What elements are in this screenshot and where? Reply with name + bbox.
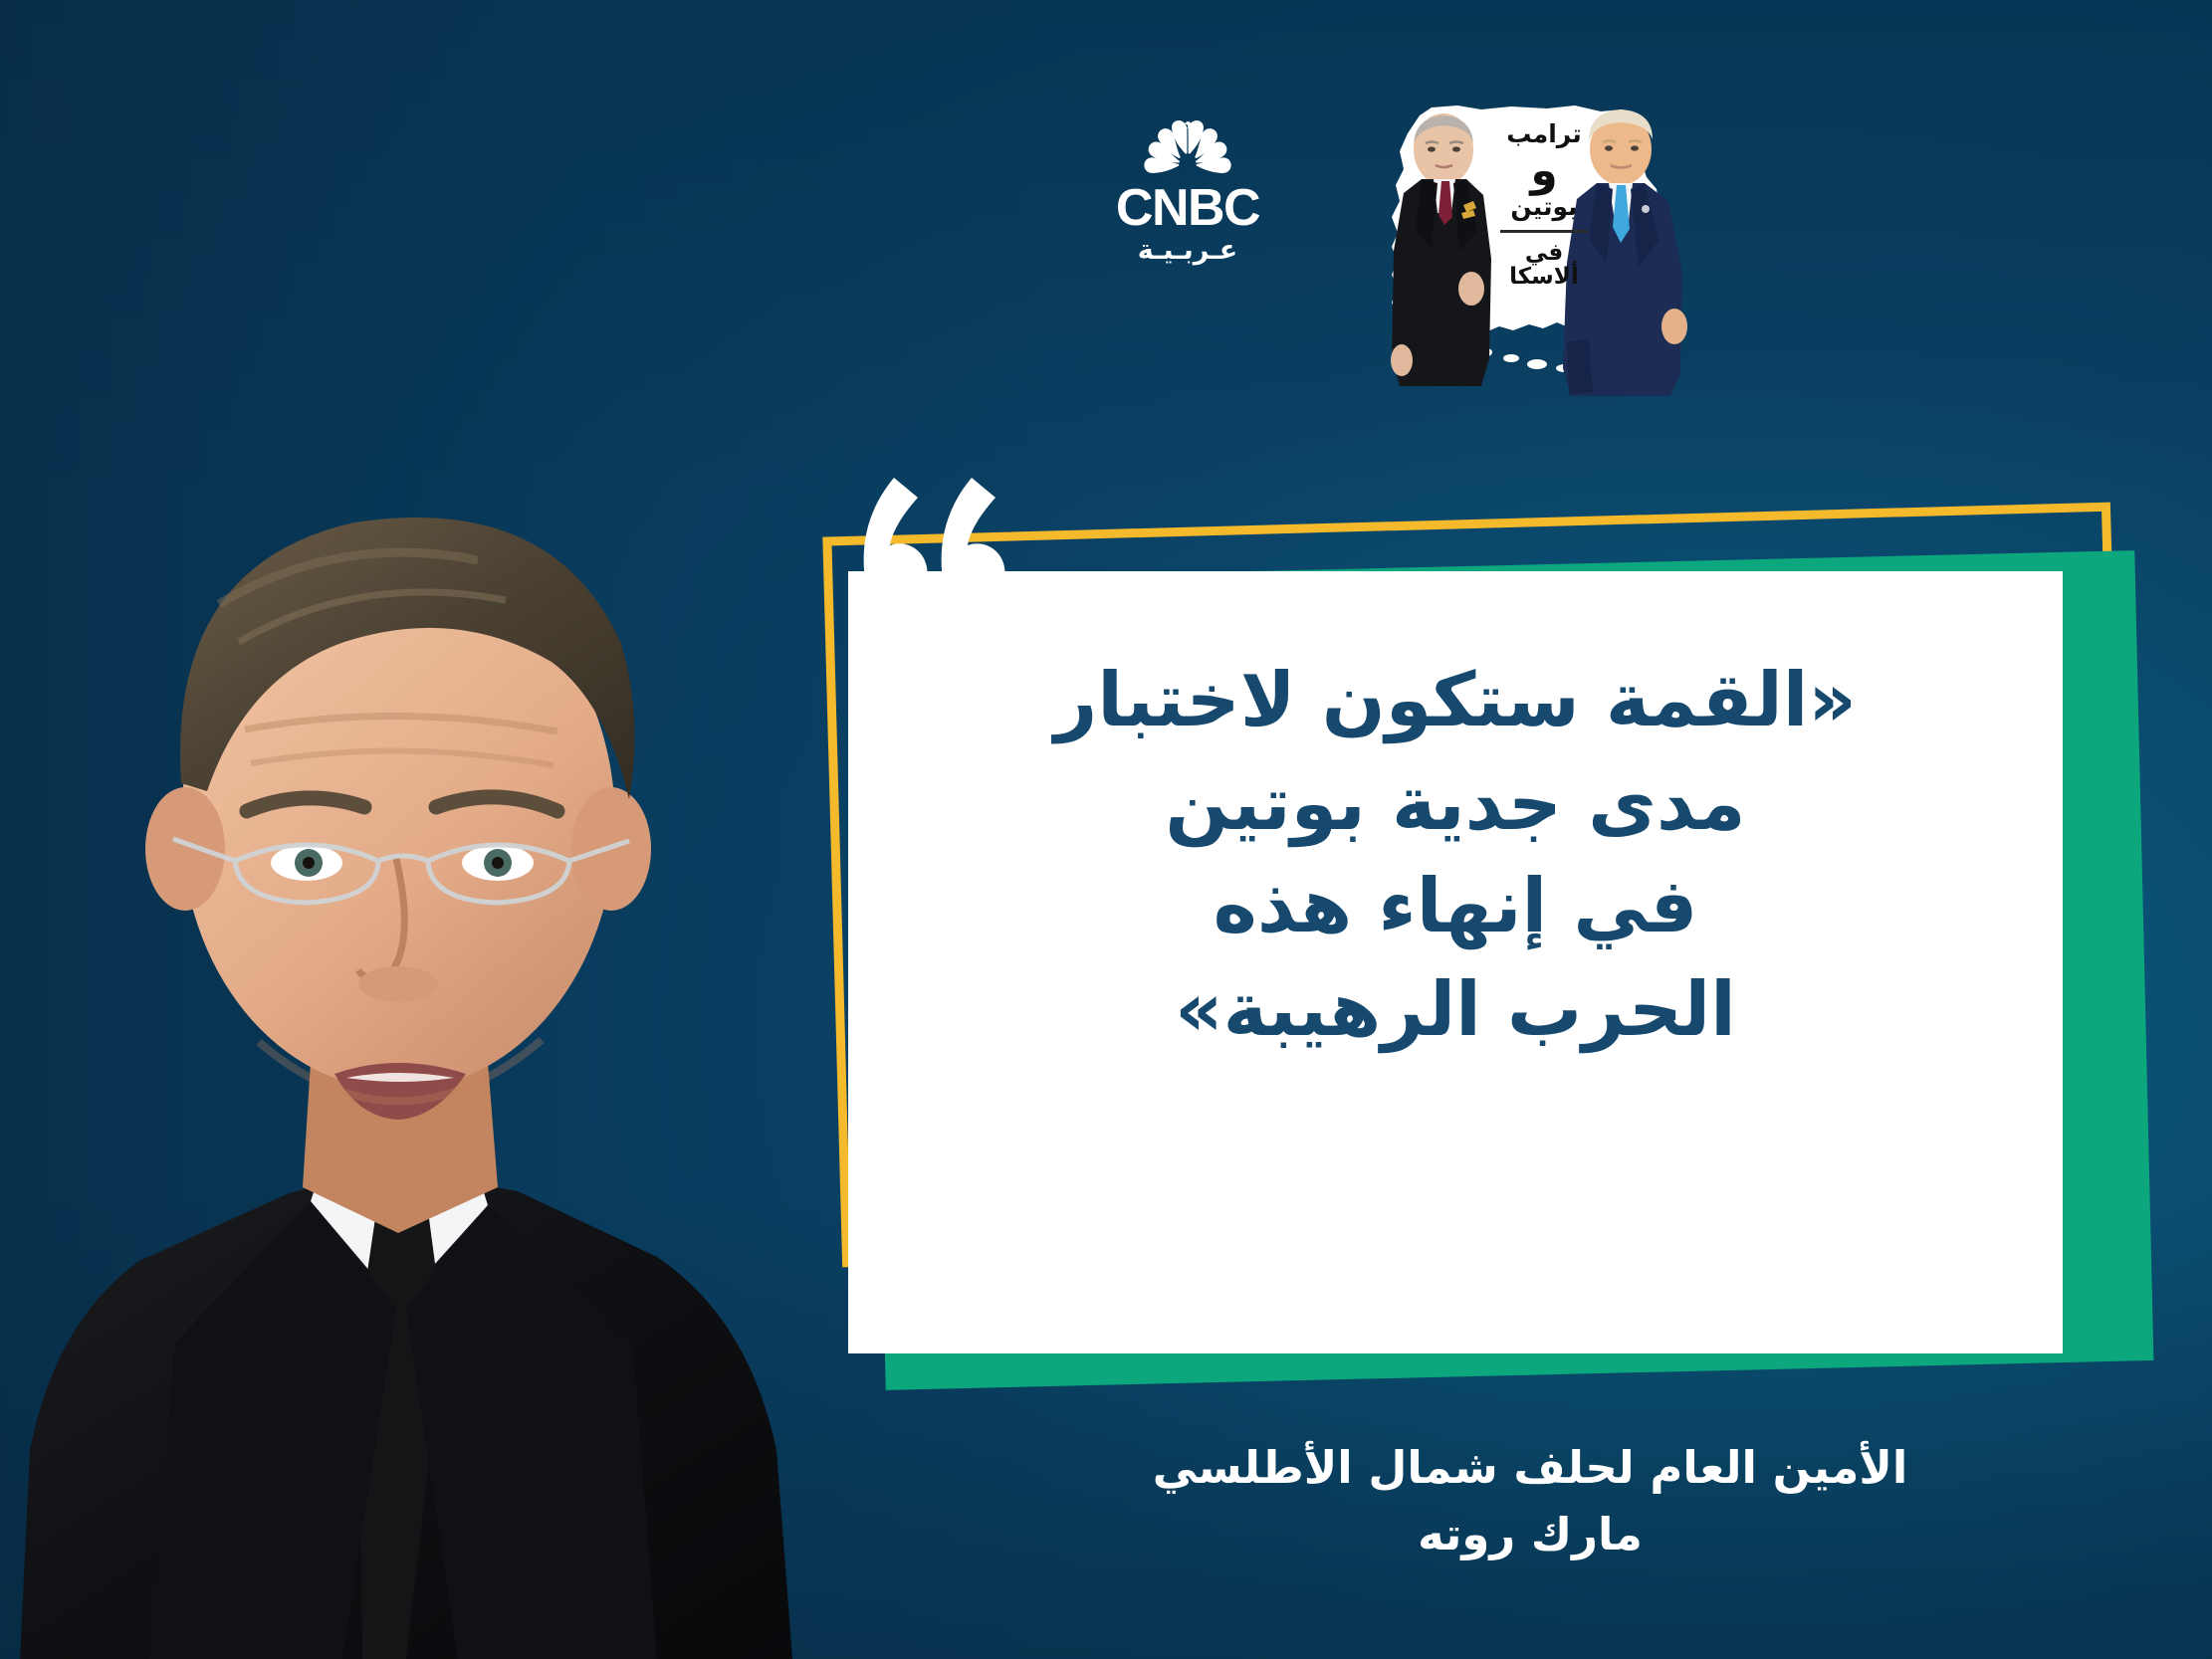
alaska-summit-graphic: ترامب و بوتين في ألاسكا bbox=[1302, 96, 1780, 414]
badge-trump-label: ترامب bbox=[1488, 121, 1600, 147]
quote-line-3: في إنهاء هذه bbox=[888, 855, 2023, 958]
attribution-name: مارك روته bbox=[958, 1508, 2102, 1562]
cnbc-peacock-icon bbox=[1124, 117, 1251, 179]
mark-rutte-portrait bbox=[0, 266, 976, 1659]
quote-line-1: «القمة ستكون لاختبار bbox=[888, 649, 2023, 752]
attribution-block: الأمين العام لحلف شمال الأطلسي مارك روته bbox=[958, 1441, 2102, 1562]
header-brand-row: CNBC عـربـيـة bbox=[1075, 96, 1792, 414]
cnbc-wordmark: CNBC bbox=[1093, 185, 1282, 233]
quote-line-2: مدى جدية بوتين bbox=[888, 752, 2023, 856]
badge-putin-label: بوتين bbox=[1488, 194, 1600, 220]
cnbc-arabia-logo: CNBC عـربـيـة bbox=[1093, 117, 1282, 266]
quote-text: «القمة ستكون لاختبار مدى جدية بوتين في إ… bbox=[888, 649, 2023, 1061]
badge-divider bbox=[1500, 230, 1588, 233]
cnbc-arabic-wordmark: عـربـيـة bbox=[1093, 235, 1282, 266]
summit-badge: ترامب و بوتين في ألاسكا bbox=[1482, 109, 1606, 299]
attribution-role: الأمين العام لحلف شمال الأطلسي bbox=[958, 1441, 2102, 1496]
quote-card-graphic: CNBC عـربـيـة bbox=[0, 0, 2212, 1659]
badge-conjunction: و bbox=[1488, 148, 1600, 194]
badge-location-label: في ألاسكا bbox=[1488, 241, 1600, 289]
quote-line-4: الحرب الرهيبة» bbox=[888, 958, 2023, 1062]
